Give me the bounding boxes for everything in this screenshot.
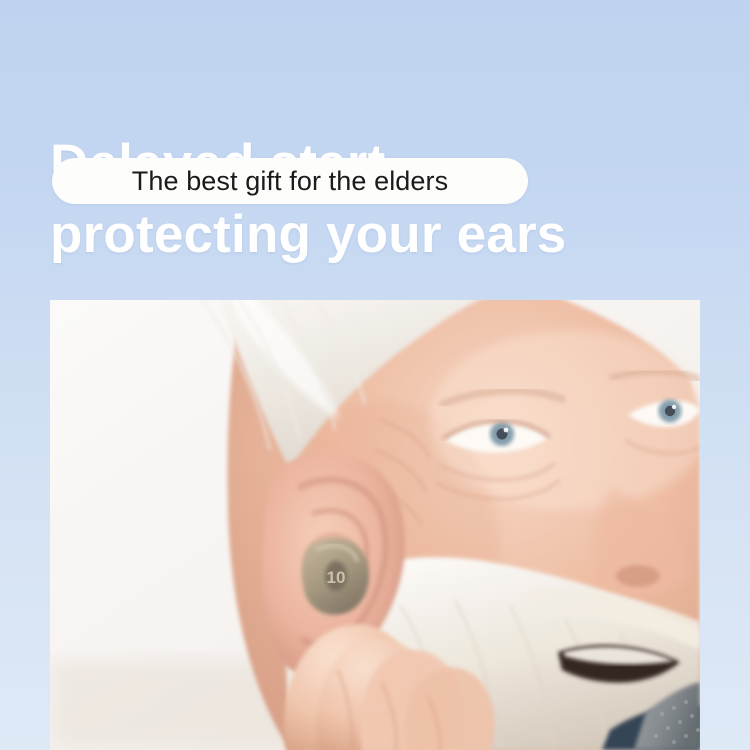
promo-banner: Delayed startprotecting your ears The be…: [0, 0, 750, 750]
tagline-badge-label: The best gift for the elders: [132, 166, 448, 197]
tagline-badge: The best gift for the elders: [52, 158, 528, 204]
photo-overlay: [50, 300, 700, 750]
photo-illustration: 10: [50, 300, 700, 750]
product-lifestyle-photo: 10: [50, 300, 700, 750]
